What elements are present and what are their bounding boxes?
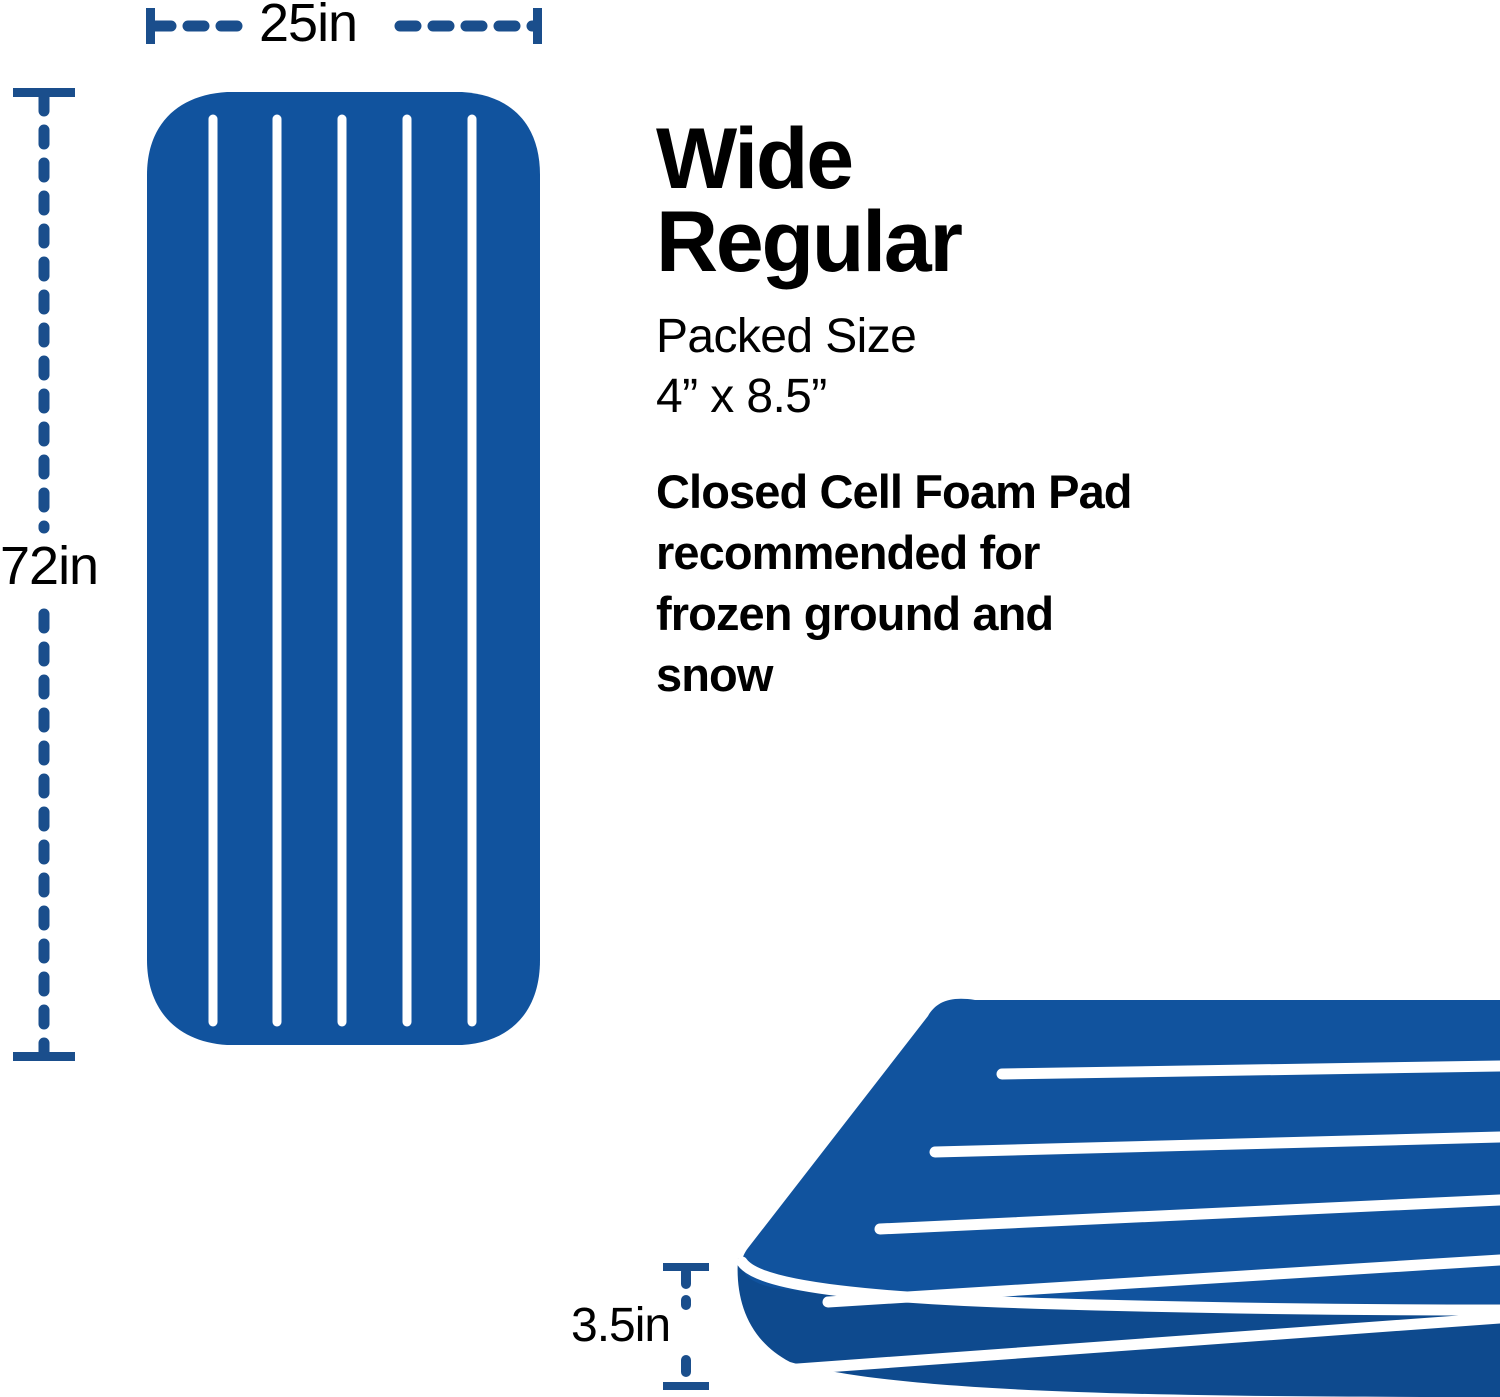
packed-size-block: Packed Size 4” x 8.5” <box>656 307 1196 427</box>
product-spec-diagram: 25in 72in 3.5in Wide Regular Packed Size… <box>0 0 1500 1397</box>
product-info-panel: Wide Regular Packed Size 4” x 8.5” Close… <box>656 118 1196 705</box>
product-title: Wide Regular <box>656 118 1196 285</box>
dimension-cap-bottom <box>663 1382 709 1390</box>
dimension-label-width: 25in <box>259 0 357 50</box>
recommendation-note: Closed Cell Foam Pad recommended for fro… <box>656 461 1156 705</box>
product-title-line-1: Wide <box>656 111 852 207</box>
dimension-label-thickness: 3.5in <box>571 1302 670 1350</box>
packed-size-label: Packed Size <box>656 307 1196 367</box>
sleeping-pad-perspective-view <box>738 999 1500 1397</box>
product-title-line-2: Regular <box>656 194 961 290</box>
dimension-label-length: 72in <box>0 539 98 593</box>
packed-size-value: 4” x 8.5” <box>656 367 1196 427</box>
sleeping-pad-top-view <box>147 92 540 1045</box>
